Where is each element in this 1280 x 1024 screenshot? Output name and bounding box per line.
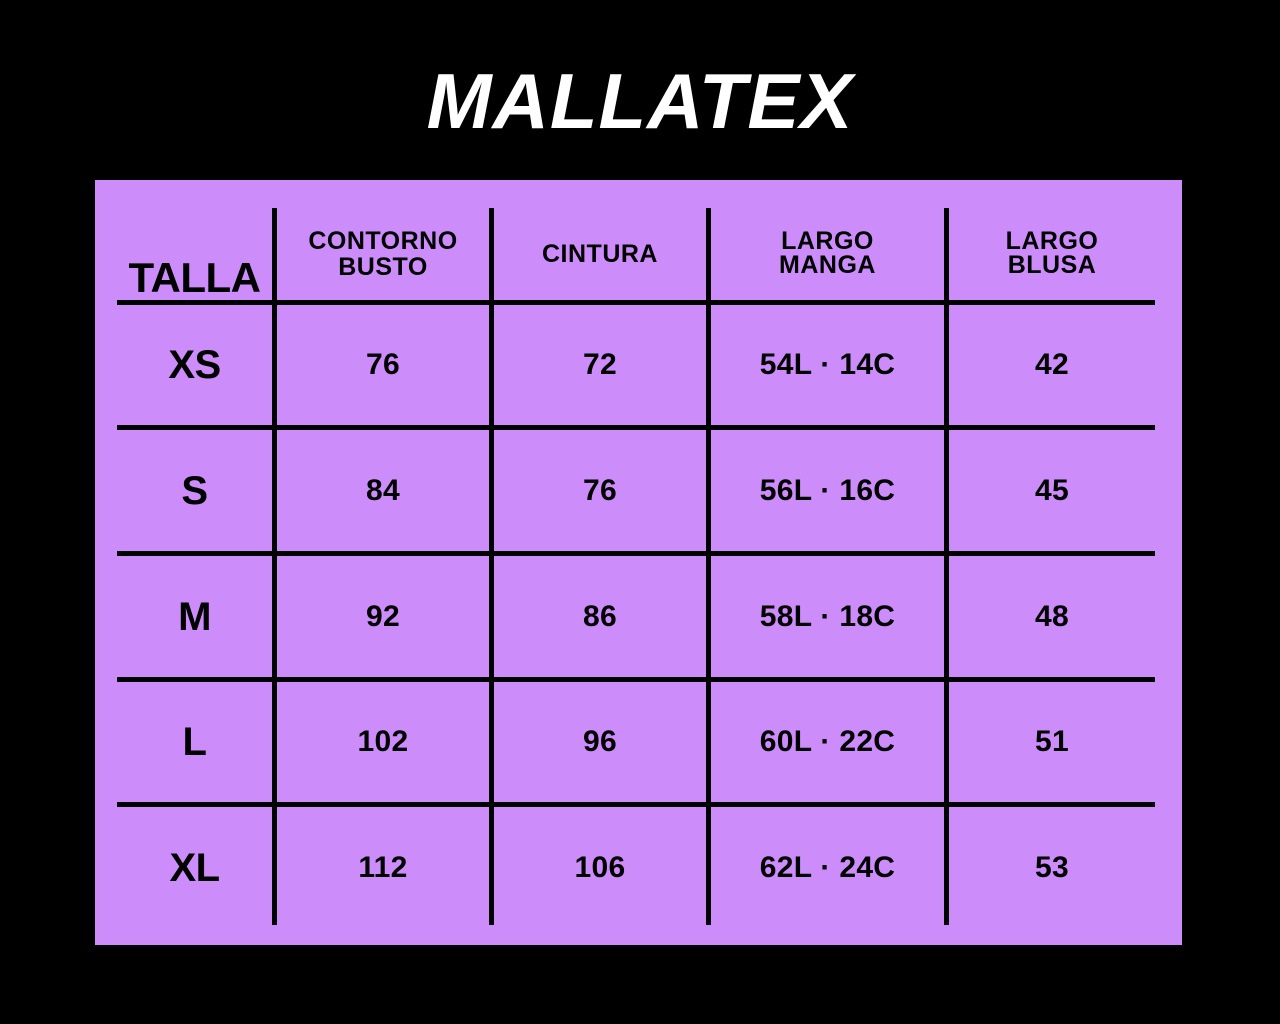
- table-row: 42: [949, 305, 1155, 425]
- cell-largo-blusa: 51: [1035, 726, 1069, 758]
- table-row: 112: [277, 807, 489, 928]
- table-row: 62L · 24C: [711, 807, 944, 928]
- cell-largo-manga: 58L · 18C: [760, 601, 896, 633]
- cell-contorno-busto: 76: [366, 349, 400, 381]
- table-row: 54L · 14C: [711, 305, 944, 425]
- table-row: XS: [117, 305, 272, 425]
- table-row: 58L · 18C: [711, 556, 944, 677]
- cell-contorno-busto: 112: [358, 852, 407, 884]
- cell-contorno-busto: 84: [366, 475, 400, 507]
- cell-largo-manga: 62L · 24C: [760, 852, 896, 884]
- brand-title: MALLATEX: [0, 62, 1280, 140]
- table-row: 86: [494, 556, 706, 677]
- cell-largo-manga: 60L · 22C: [760, 726, 896, 758]
- table-row: 96: [494, 682, 706, 802]
- cell-talla: S: [181, 470, 207, 512]
- table-row: 45: [949, 430, 1155, 551]
- size-chart-panel: TALLA CONTORNO BUSTO CINTURA LARGO MANGA…: [95, 180, 1182, 945]
- table-row: 76: [494, 430, 706, 551]
- column-header-largo-manga-line2: MANGA: [779, 254, 876, 278]
- table-row: 106: [494, 807, 706, 928]
- column-header-contorno-busto: CONTORNO BUSTO: [277, 208, 489, 300]
- cell-largo-manga: 54L · 14C: [760, 349, 896, 381]
- cell-largo-blusa: 53: [1035, 852, 1069, 884]
- cell-talla: L: [183, 721, 207, 763]
- column-header-largo-manga: LARGO MANGA: [711, 208, 944, 300]
- table-row: 53: [949, 807, 1155, 928]
- cell-talla: XL: [169, 847, 219, 889]
- column-header-largo-blusa: LARGO BLUSA: [949, 208, 1155, 300]
- cell-largo-blusa: 48: [1035, 601, 1069, 633]
- cell-largo-blusa: 42: [1035, 349, 1069, 381]
- cell-contorno-busto: 102: [358, 726, 409, 758]
- table-row: 84: [277, 430, 489, 551]
- table-row: 60L · 22C: [711, 682, 944, 802]
- cell-cintura: 86: [583, 601, 617, 633]
- table-row: 72: [494, 305, 706, 425]
- cell-largo-manga: 56L · 16C: [760, 475, 896, 507]
- table-row: S: [117, 430, 272, 551]
- table-row: 102: [277, 682, 489, 802]
- table-row: 48: [949, 556, 1155, 677]
- table-row: 76: [277, 305, 489, 425]
- cell-cintura: 96: [583, 726, 617, 758]
- table-row: XL: [117, 807, 272, 928]
- table-row: M: [117, 556, 272, 677]
- table-row: 92: [277, 556, 489, 677]
- cell-cintura: 106: [575, 852, 626, 884]
- size-chart-poster: MALLATEX TALLA CONTORNO BUSTO CINTURA LA…: [0, 0, 1280, 1024]
- cell-largo-blusa: 45: [1035, 475, 1069, 507]
- cell-talla: M: [178, 596, 211, 638]
- column-header-cintura-label: CINTURA: [542, 241, 658, 267]
- table-row: 51: [949, 682, 1155, 802]
- column-header-contorno-busto-line2: BUSTO: [308, 254, 457, 280]
- cell-talla: XS: [168, 344, 220, 386]
- cell-contorno-busto: 92: [366, 601, 400, 633]
- cell-cintura: 76: [583, 475, 617, 507]
- table-row: L: [117, 682, 272, 802]
- column-header-talla: TALLA: [117, 208, 272, 302]
- table-row: 56L · 16C: [711, 430, 944, 551]
- cell-cintura: 72: [583, 349, 617, 381]
- column-header-largo-blusa-line2: BLUSA: [1006, 254, 1099, 278]
- column-header-talla-label: TALLA: [128, 256, 260, 300]
- column-header-contorno-busto-line1: CONTORNO: [308, 228, 457, 254]
- column-header-cintura: CINTURA: [494, 208, 706, 300]
